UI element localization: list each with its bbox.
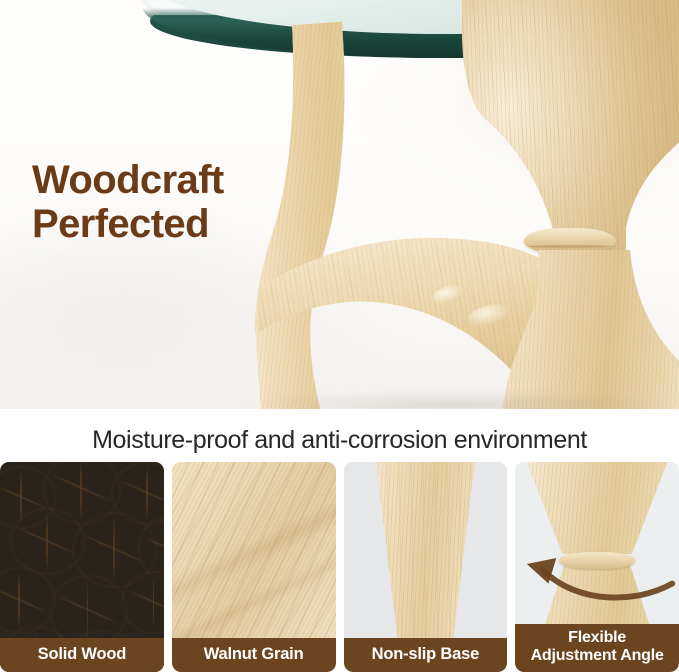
features-heading: Moisture-proof and anti-corrosion enviro… (0, 426, 679, 455)
feature-card-walnut-grain[interactable]: Walnut Grain (172, 462, 336, 672)
feature-card-label: Non-slip Base (344, 638, 508, 672)
hero-headline-line-1: Woodcraft (32, 158, 224, 202)
feature-card-label-line-1: Flexible (568, 629, 626, 646)
feature-card-label-line-2: Adjustment Angle (531, 647, 664, 664)
features-section: Moisture-proof and anti-corrosion enviro… (0, 409, 679, 672)
feature-card-list: Solid Wood Walnut Grain Non-slip Base (0, 462, 679, 672)
hero-headline-line-2: Perfected (32, 202, 224, 246)
feature-card-label: Flexible Adjustment Angle (515, 624, 679, 672)
hero-product-image: Woodcraft Perfected (0, 0, 679, 409)
feature-card-label: Solid Wood (0, 638, 164, 672)
wood-joint-seam (528, 245, 612, 248)
feature-card-flexible-adjustment-angle[interactable]: Flexible Adjustment Angle (515, 462, 679, 672)
hero-headline: Woodcraft Perfected (32, 158, 224, 246)
feature-card-solid-wood[interactable]: Solid Wood (0, 462, 164, 672)
feature-card-non-slip-base[interactable]: Non-slip Base (344, 462, 508, 672)
feature-card-label: Walnut Grain (172, 638, 336, 672)
rotation-arrow-icon (519, 542, 676, 613)
